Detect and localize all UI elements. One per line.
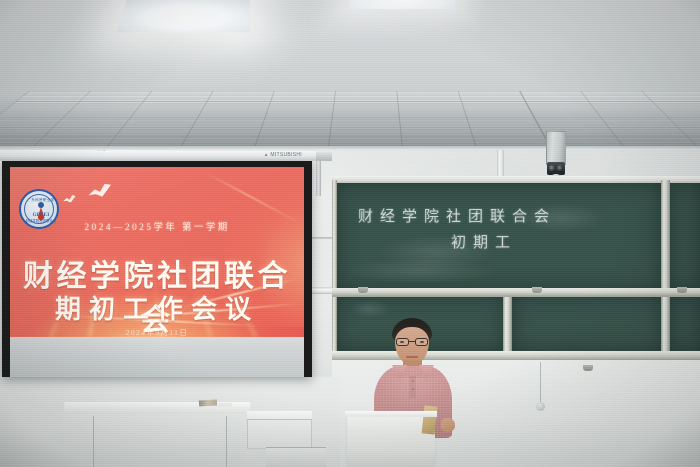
eyeglasses-icon [395, 338, 429, 346]
blackboard-hook [532, 287, 542, 293]
blackboard-writing-right: 联合会 作会议 [670, 183, 700, 291]
hanging-cable [540, 362, 541, 404]
blackboard-hook [677, 287, 687, 293]
projector-screen-roller: ▲MITSUBISHI [0, 151, 316, 161]
blackboard-panel-lower-middle [512, 294, 662, 351]
chalk-smudge [350, 300, 390, 318]
eyeglasses-lens-left [396, 338, 409, 346]
eyeglasses-bridge [409, 341, 415, 342]
blackboard-panel-lower-right [670, 294, 700, 351]
chalk-line-2: 初期工 [451, 231, 517, 252]
blackboard-divider-vertical [503, 292, 512, 354]
classroom-photo: 财经学院社团联合会 初期工 联合会 作会议 [0, 0, 700, 467]
equipment-box-icon [546, 131, 566, 165]
slide-date: 2024年9月11日 [10, 327, 304, 337]
slide-title-line-2: 期初工作会议 [10, 289, 304, 326]
screen-mount-bracket [316, 156, 321, 196]
classroom-cabinet-lower [266, 447, 326, 467]
ceiling [0, 0, 700, 152]
podium-surface [345, 411, 437, 417]
dove-icon-small [63, 194, 77, 204]
ceiling-shadow [0, 96, 700, 152]
blackboard-hook [358, 287, 368, 293]
ceiling-light-panel [116, 0, 250, 32]
screen-brand-text: MITSUBISHI [270, 152, 302, 158]
chalk-line-1: 财经学院社团联合会 [358, 205, 556, 226]
slide-subtitle: 2024—2025学年 第一学期 [10, 219, 304, 233]
ceiling-light-panel-secondary [348, 0, 457, 9]
screen-blank-area [10, 337, 304, 377]
projected-slide: 广东科贸职业学院 GPFEI 财经学院社团联合会 2024—2025学年 第一学… [10, 167, 304, 337]
blackboard-hook-lower [583, 365, 593, 371]
classroom-cabinet [247, 419, 312, 449]
blackboard-divider-vertical [661, 180, 670, 354]
cable-weight [536, 402, 545, 411]
blackboard-writing-left: 财经学院社团联合会 初期工 [336, 183, 661, 291]
desk-cable [226, 416, 227, 467]
person-hand [441, 418, 455, 432]
projection-screen: 广东科贸职业学院 GPFEI 财经学院社团联合会 2024—2025学年 第一学… [2, 159, 312, 377]
desk-object [199, 400, 217, 407]
blackboard-frame-left [332, 180, 337, 354]
dove-icon-large [87, 182, 113, 201]
desk-object-secondary [218, 403, 232, 407]
blackboard-divider-horizontal [332, 288, 700, 297]
desk-cable [93, 416, 94, 467]
eyeglasses-lens-right [415, 338, 428, 346]
classroom-desk [62, 414, 246, 467]
mitsubishi-logo-icon: ▲ [264, 152, 269, 158]
screen-brand-label: ▲MITSUBISHI [264, 152, 302, 158]
